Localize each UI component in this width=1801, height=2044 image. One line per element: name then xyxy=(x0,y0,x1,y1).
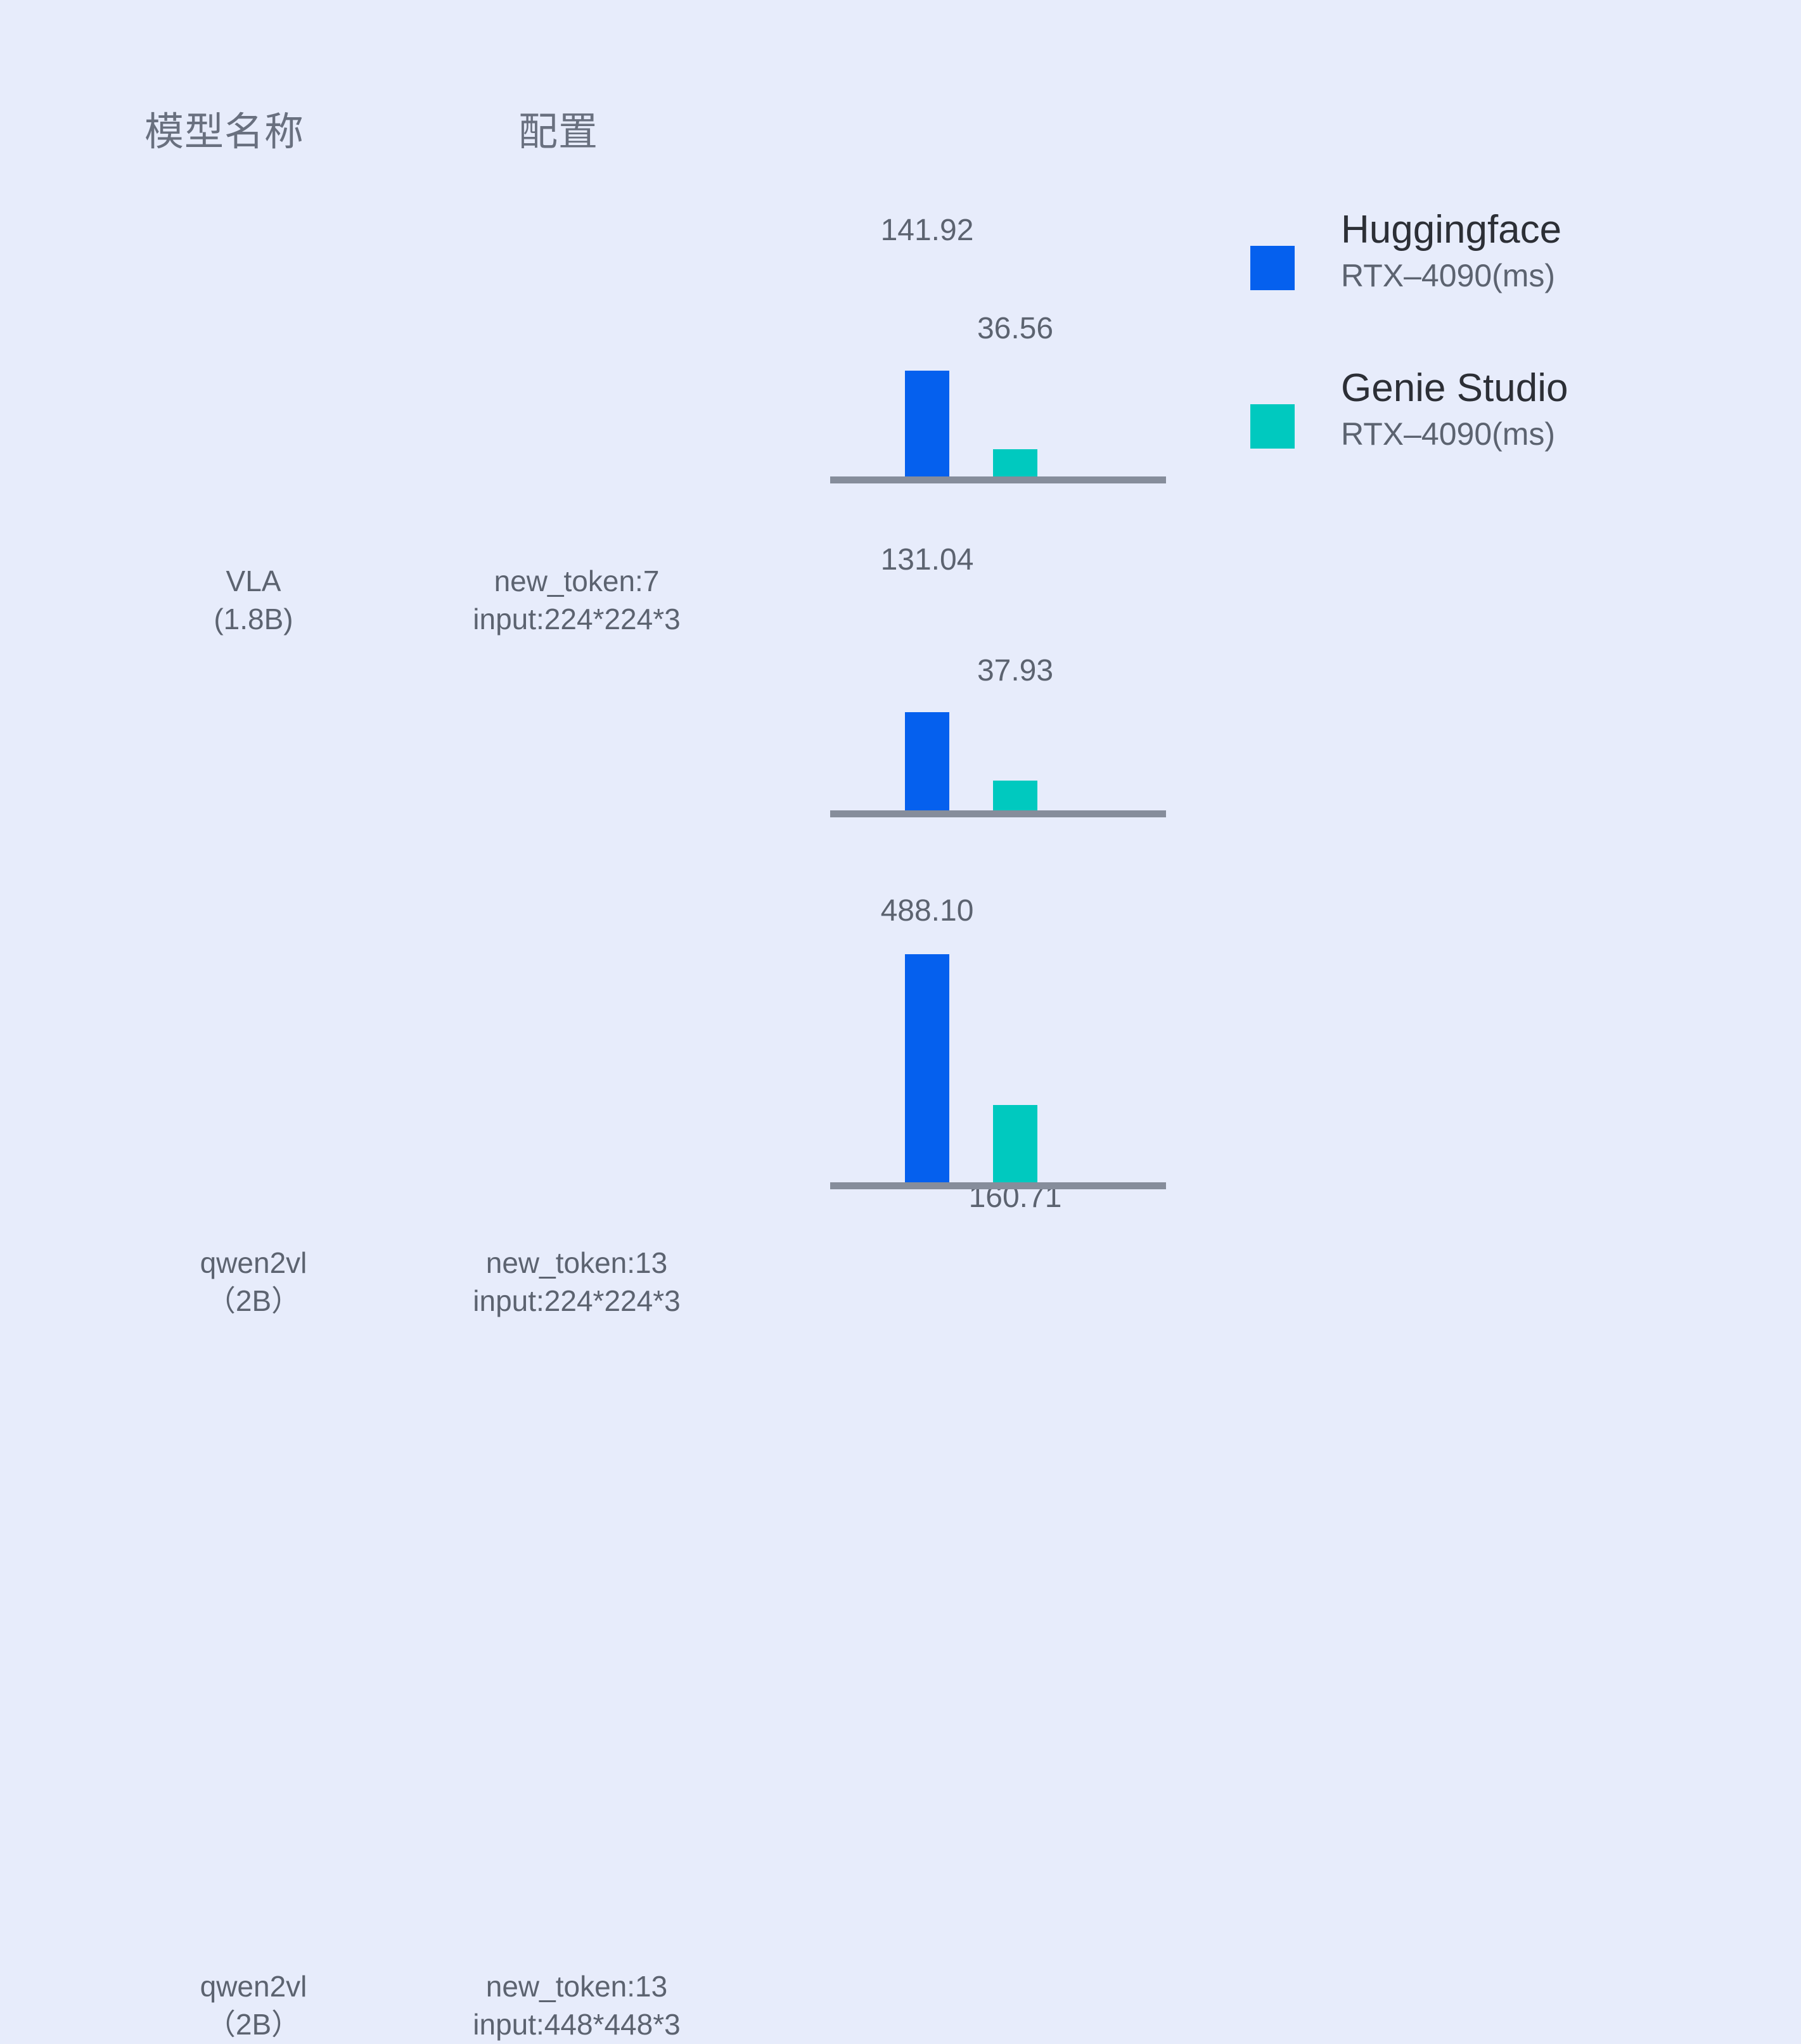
config-tokens-text: new_token:13 xyxy=(355,1244,798,1282)
bar-value-label-huggingface: 131.04 xyxy=(845,545,1009,575)
legend-device-genie-studio: RTX–4090(ms) xyxy=(1341,418,1747,450)
bar-genie-studio xyxy=(993,1105,1037,1182)
bar-huggingface xyxy=(905,371,949,476)
legend-text-group: Huggingface RTX–4090(ms) xyxy=(1341,210,1747,291)
column-header-config: 配置 xyxy=(518,113,598,152)
legend-swatch-teal-icon xyxy=(1250,404,1295,449)
legend-title-genie-studio: Genie Studio xyxy=(1341,369,1747,408)
legend-text-group: Genie Studio RTX–4090(ms) xyxy=(1341,369,1747,450)
model-size-text: （2B） xyxy=(120,1282,387,1320)
bar-value-label-genie-studio: 36.56 xyxy=(933,314,1098,344)
config-tokens-text: new_token:13 xyxy=(355,1968,798,2006)
model-name-text: qwen2vl xyxy=(120,1244,387,1282)
legend-title-huggingface: Huggingface xyxy=(1341,210,1747,250)
row-bar-chart: 131.04 37.93 xyxy=(830,532,1166,817)
row-model-cell: qwen2vl （2B） xyxy=(120,1244,387,1320)
model-name-text: qwen2vl xyxy=(120,1968,387,2006)
bar-value-label-huggingface: 141.92 xyxy=(845,215,1009,246)
bar-huggingface xyxy=(905,712,949,810)
column-header-model-name: 模型名称 xyxy=(144,113,304,152)
row-bar-chart: 141.92 36.56 xyxy=(830,190,1166,488)
row-config-cell: new_token:13 input:448*448*3 xyxy=(355,1968,798,2044)
row-baseline xyxy=(830,810,1166,817)
model-size-text: （2B） xyxy=(120,2006,387,2044)
row-config-cell: new_token:13 input:224*224*3 xyxy=(355,1244,798,1320)
row-bar-chart: 488.10 160.71 xyxy=(830,887,1166,1191)
row-model-cell: qwen2vl （2B） xyxy=(120,1968,387,2044)
chart-canvas: 模型名称 配置 VLA (1.8B) new_token:7 input:224… xyxy=(0,0,1801,1333)
bar-genie-studio xyxy=(993,781,1037,810)
bar-genie-studio xyxy=(993,449,1037,476)
row-baseline xyxy=(830,476,1166,483)
bar-value-label-genie-studio: 37.93 xyxy=(933,656,1098,686)
legend-device-huggingface: RTX–4090(ms) xyxy=(1341,260,1747,291)
config-input-text: input:224*224*3 xyxy=(355,1282,798,1320)
config-input-text: input:448*448*3 xyxy=(355,2006,798,2044)
row-baseline xyxy=(830,1182,1166,1189)
legend-swatch-blue-icon xyxy=(1250,246,1295,290)
bar-huggingface xyxy=(905,954,949,1189)
bar-value-label-huggingface: 488.10 xyxy=(845,896,1009,926)
